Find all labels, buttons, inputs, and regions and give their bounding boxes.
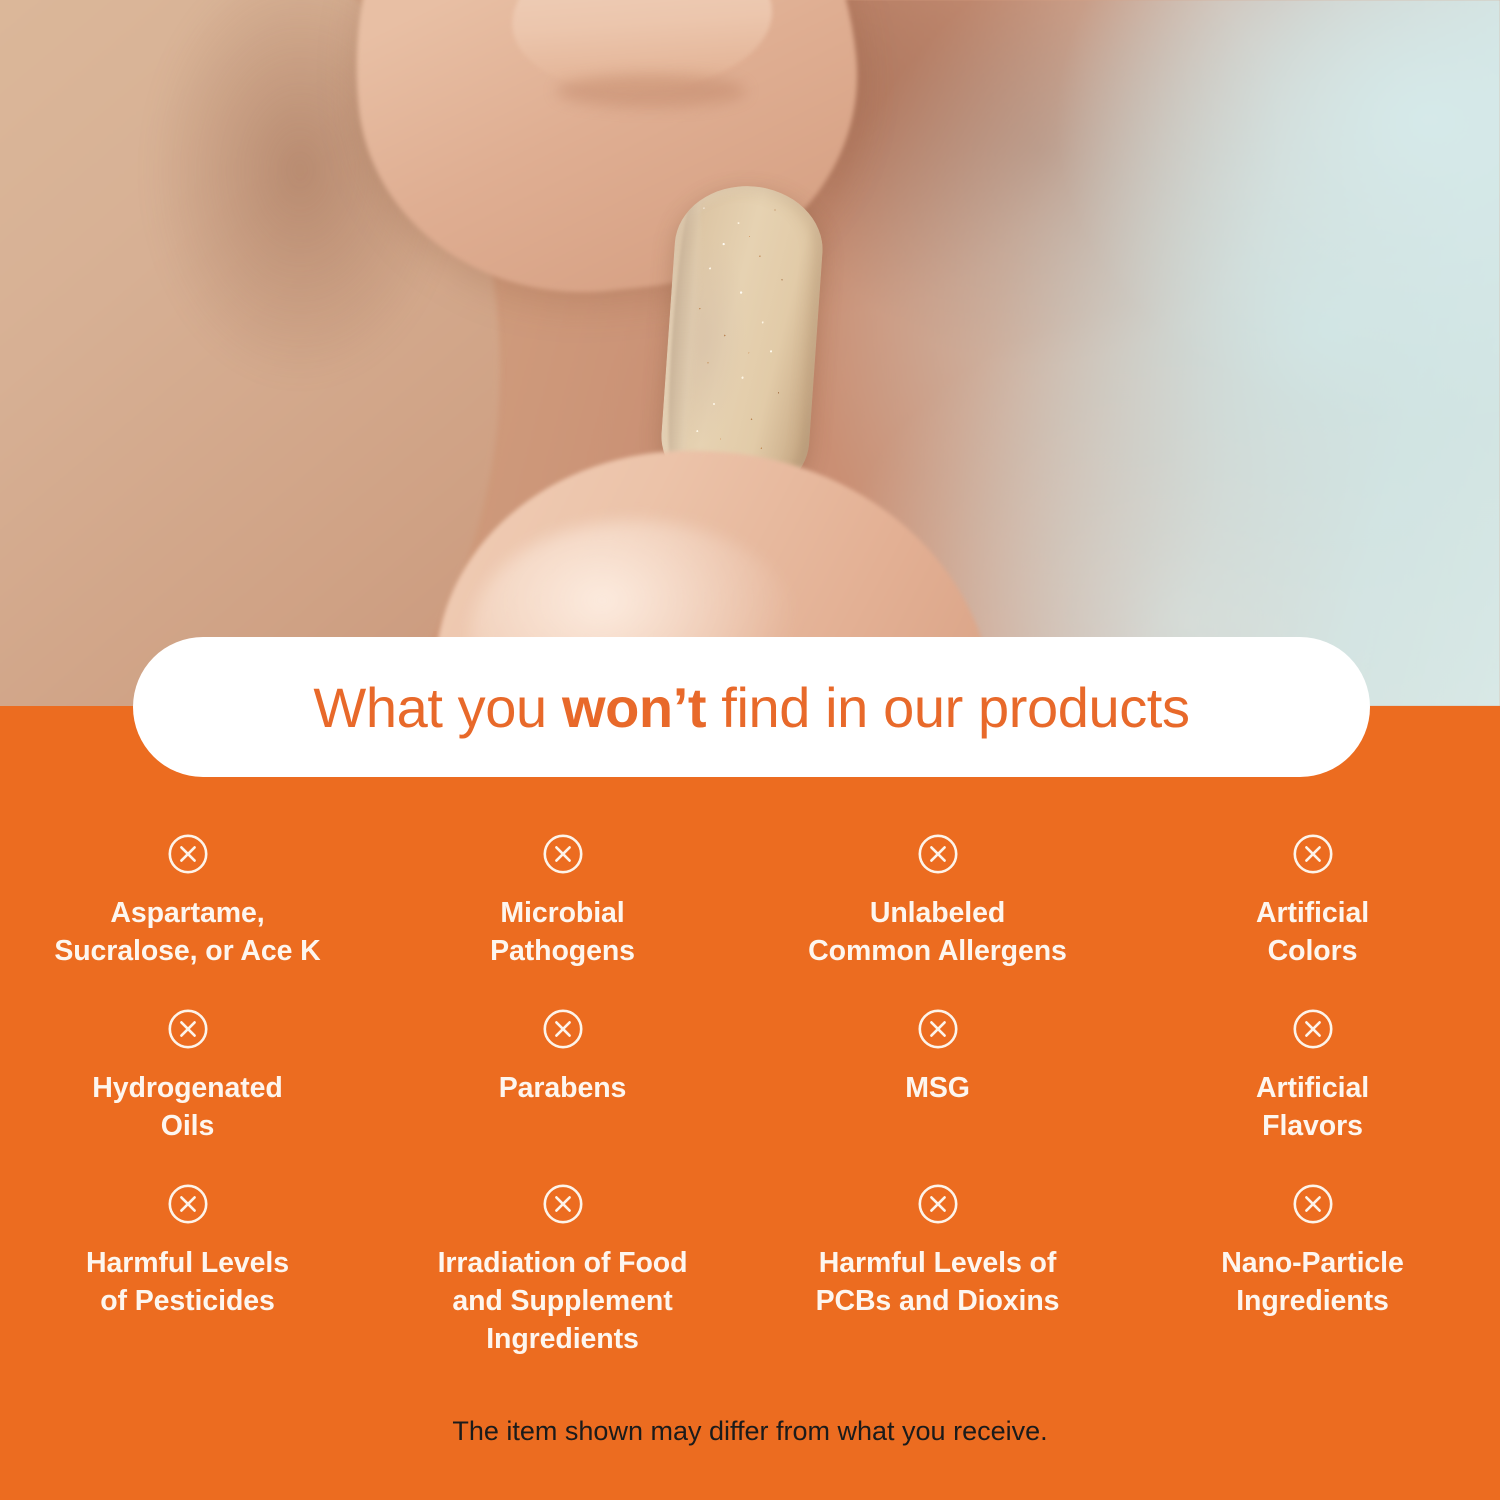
grid-item-label: Harmful Levels of Pesticides bbox=[18, 1245, 357, 1321]
grid-item: Microbial Pathogens bbox=[375, 808, 750, 983]
circle-x-icon bbox=[917, 833, 959, 875]
page-title: What you won’t find in our products bbox=[313, 675, 1189, 740]
title-part-after: find in our products bbox=[706, 676, 1189, 739]
thumb-crease bbox=[556, 74, 746, 108]
grid-item: MSG bbox=[750, 983, 1125, 1158]
grid-item-label: Irradiation of Food and Supplement Ingre… bbox=[393, 1245, 732, 1359]
grid-item-label: Artificial Flavors bbox=[1143, 1070, 1482, 1146]
circle-x-icon bbox=[1292, 833, 1334, 875]
title-emphasis: won’t bbox=[562, 676, 706, 739]
circle-x-icon bbox=[542, 833, 584, 875]
circle-x-icon bbox=[1292, 1008, 1334, 1050]
hero-photo bbox=[0, 0, 1500, 706]
grid-item: Aspartame, Sucralose, or Ace K bbox=[0, 808, 375, 983]
grid-item-label: Hydrogenated Oils bbox=[18, 1070, 357, 1146]
grid-item-label: Artificial Colors bbox=[1143, 895, 1482, 971]
circle-x-icon bbox=[917, 1183, 959, 1225]
circle-x-icon bbox=[1292, 1183, 1334, 1225]
grid-item-label: MSG bbox=[768, 1070, 1107, 1108]
grid-item: Artificial Flavors bbox=[1125, 983, 1500, 1158]
grid-item: Unlabeled Common Allergens bbox=[750, 808, 1125, 983]
grid-item: Parabens bbox=[375, 983, 750, 1158]
grid-item: Harmful Levels of PCBs and Dioxins bbox=[750, 1158, 1125, 1359]
grid-item: Harmful Levels of Pesticides bbox=[0, 1158, 375, 1359]
circle-x-icon bbox=[167, 1008, 209, 1050]
circle-x-icon bbox=[542, 1183, 584, 1225]
grid-item-label: Unlabeled Common Allergens bbox=[768, 895, 1107, 971]
grid-item: Nano-Particle Ingredients bbox=[1125, 1158, 1500, 1359]
grid-item-label: Microbial Pathogens bbox=[393, 895, 732, 971]
circle-x-icon bbox=[917, 1008, 959, 1050]
grid-item-label: Nano-Particle Ingredients bbox=[1143, 1245, 1482, 1321]
grid-item: Hydrogenated Oils bbox=[0, 983, 375, 1158]
circle-x-icon bbox=[167, 1183, 209, 1225]
grid-item: Irradiation of Food and Supplement Ingre… bbox=[375, 1158, 750, 1359]
title-banner: What you won’t find in our products bbox=[133, 637, 1370, 777]
grid-item-label: Harmful Levels of PCBs and Dioxins bbox=[768, 1245, 1107, 1321]
grid-item-label: Parabens bbox=[393, 1070, 732, 1108]
circle-x-icon bbox=[542, 1008, 584, 1050]
grid-item: Artificial Colors bbox=[1125, 808, 1500, 983]
grid-item-label: Aspartame, Sucralose, or Ace K bbox=[18, 895, 357, 971]
circle-x-icon bbox=[167, 833, 209, 875]
title-part-before: What you bbox=[313, 676, 562, 739]
excluded-ingredients-grid: Aspartame, Sucralose, or Ace K Microbial… bbox=[0, 808, 1500, 1359]
product-claims-graphic: What you won’t find in our products Aspa… bbox=[0, 0, 1500, 1500]
disclaimer-text: The item shown may differ from what you … bbox=[0, 1416, 1500, 1447]
